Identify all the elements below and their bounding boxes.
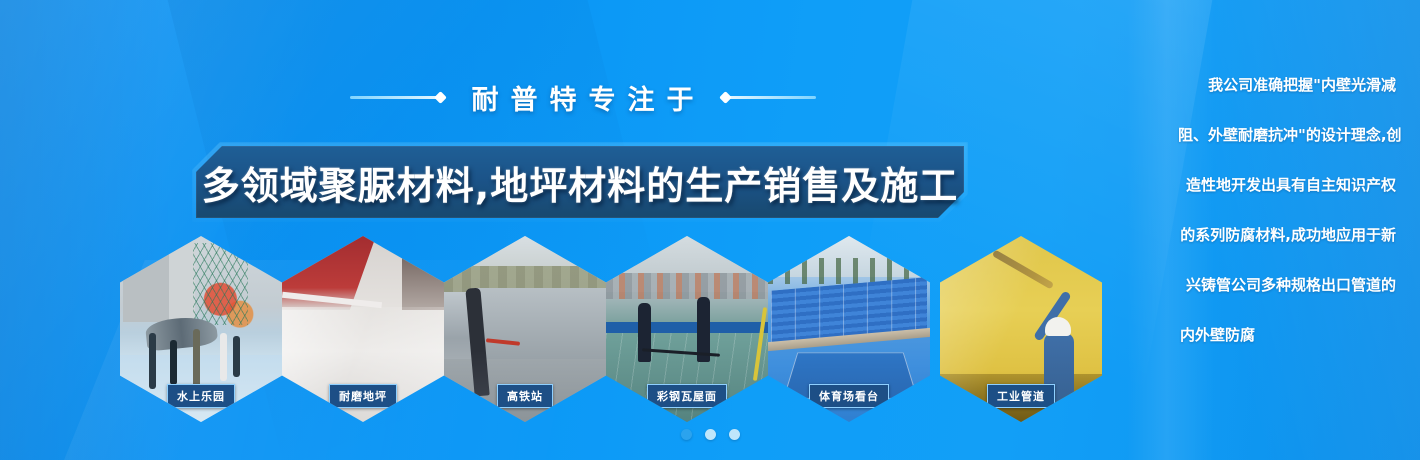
gallery-item-label: 高铁站 — [497, 384, 553, 408]
diamond-knob-icon — [434, 91, 447, 104]
subheadline-text: 耐普特专注于 — [460, 78, 706, 117]
gallery-item-label: 水上乐园 — [167, 384, 235, 408]
side-paragraph-line: 我公司准确把握"内壁光滑减 — [1178, 78, 1396, 93]
carousel-dots — [355, 429, 1065, 440]
gallery-item-label: 体育场看台 — [809, 384, 889, 408]
side-paragraph-line: 阻、外壁耐磨抗冲"的设计理念,创 — [1178, 128, 1396, 143]
headline-text: 多领域聚脲材料,地坪材料的生产销售及施工 — [196, 146, 964, 218]
gallery-item-abrasion-floor[interactable]: 耐磨地坪 — [282, 236, 444, 422]
gallery-item-color-steel-roof[interactable]: 彩钢瓦屋面 — [606, 236, 768, 422]
gallery-item-water-park[interactable]: 水上乐园 — [120, 236, 282, 422]
right-rule-decoration — [724, 96, 816, 99]
carousel-dot-3[interactable] — [729, 429, 740, 440]
gallery-item-label: 工业管道 — [987, 384, 1055, 408]
gallery-item-industrial-pipeline[interactable]: 工业管道 — [940, 236, 1102, 422]
gallery-item-stadium-stands[interactable]: 体育场看台 — [768, 236, 930, 422]
promo-banner: 耐普特专注于 多领域聚脲材料,地坪材料的生产销售及施工 水上乐园 — [0, 0, 1420, 460]
side-paragraph: 我公司准确把握"内壁光滑减 阻、外壁耐磨抗冲"的设计理念,创 造性地开发出具有自… — [1178, 78, 1396, 343]
side-paragraph-line: 的系列防腐材料,成功地应用于新 — [1178, 228, 1396, 243]
left-rule-decoration — [350, 96, 442, 99]
gallery-item-label: 彩钢瓦屋面 — [647, 384, 727, 408]
side-paragraph-line: 兴铸管公司多种规格出口管道的 — [1178, 278, 1396, 293]
headline-plate: 多领域聚脲材料,地坪材料的生产销售及施工 — [196, 146, 964, 218]
hexagon-gallery: 水上乐园 耐磨地坪 高铁站 — [120, 236, 1170, 422]
diamond-knob-icon — [719, 91, 732, 104]
gallery-item-high-speed-rail-station[interactable]: 高铁站 — [444, 236, 606, 422]
carousel-dot-1[interactable] — [681, 429, 692, 440]
subheadline-row: 耐普特专注于 — [0, 78, 1165, 117]
side-paragraph-line: 造性地开发出具有自主知识产权 — [1178, 178, 1396, 193]
side-paragraph-line: 内外壁防腐 — [1178, 328, 1396, 343]
carousel-dot-2[interactable] — [705, 429, 716, 440]
gallery-item-label: 耐磨地坪 — [329, 384, 397, 408]
